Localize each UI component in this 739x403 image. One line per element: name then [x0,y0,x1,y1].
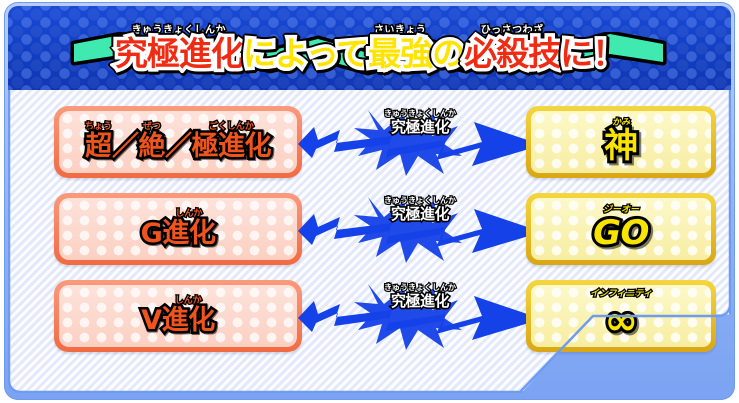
ruby-unit: ちょう 超 [85,123,112,162]
ruby-unit: しんか 進化 [162,297,215,336]
source-base: G [141,219,163,249]
header-title-row: きゅうきょくしんか 究極進化 によって さいきょう 最強 の ひっさつわざ [115,26,624,72]
source-card-inner: G しんか 進化 [59,198,297,260]
source-base: 絶 [139,132,166,162]
source-base: V [141,306,161,336]
source-base: 超 [85,132,112,162]
source-card-text: V しんか 進化 [141,297,214,336]
evolution-arrow: きゅうきょくしんか 究極進化 [296,187,544,271]
title-segment-3: さいきょう 最強 [368,26,432,72]
ruby-unit: V [141,306,161,336]
header-title: きゅうきょくしんか 究極進化 によって さいきょう 最強 の ひっさつわざ [8,20,731,72]
result-card-text: ジーオー GO [593,206,649,252]
source-card[interactable]: G しんか 進化 [54,193,302,265]
arrow-base: 究極進化 [296,206,544,223]
ruby-unit: ／ [165,132,192,162]
arrow-ruby: きゅうきょくしんか [296,284,544,292]
ruby-unit: しんか 進化 [162,210,215,249]
evolution-row: G しんか 進化 きゅう [8,193,731,265]
arrow-ruby: きゅうきょくしんか [296,197,544,205]
arrow-base: 究極進化 [296,119,544,136]
header-banner: きゅうきょくしんか 究極進化 によって さいきょう 最強 の ひっさつわざ [8,6,731,92]
result-card-inner: かみ 神 [531,111,711,173]
arrow-base: 究極進化 [296,293,544,310]
ruby-unit: ジーオー GO [593,206,649,252]
ruby-unit: ／ [112,132,139,162]
result-card[interactable]: インフィニティ ∞ [526,280,716,352]
source-base: ／ [165,132,192,162]
source-base: 進化 [162,219,215,249]
source-base: 極進化 [192,132,272,162]
ruby-unit: ぜつ 絶 [139,123,166,162]
title-base-2: によって [243,37,368,72]
source-card-inner: ちょう 超 ／ ぜつ 絶 ／ [59,111,297,173]
title-segment-5: ひっさつわざ 必殺技 [464,26,560,72]
title-base-3: 最強 [368,37,432,72]
title-base-6: に！ [560,37,624,72]
ruby-unit: G [141,219,163,249]
result-card[interactable]: ジーオー GO [526,193,716,265]
result-card[interactable]: かみ 神 [526,106,716,178]
evolution-row: ちょう 超 ／ ぜつ 絶 ／ [8,106,731,178]
evolution-row: V しんか 進化 きゅう [8,280,731,352]
source-card-text: ちょう 超 ／ ぜつ 絶 ／ [85,123,271,162]
evolution-rows: ちょう 超 ／ ぜつ 絶 ／ [8,90,731,393]
title-base-4: の [432,37,464,72]
result-base: 神 [604,128,638,165]
ruby-unit: かみ 神 [604,119,638,165]
source-base: ／ [112,132,139,162]
title-base-5: 必殺技 [464,37,560,72]
title-segment-2: によって [243,36,368,72]
source-card[interactable]: ちょう 超 ／ ぜつ 絶 ／ [54,106,302,178]
source-card-inner: V しんか 進化 [59,285,297,347]
arrow-label: きゅうきょくしんか 究極進化 [296,284,544,310]
result-card-text: かみ 神 [604,119,638,165]
result-base: GO [593,215,649,252]
source-base: 進化 [162,306,215,336]
source-card-text: G しんか 進化 [141,210,216,249]
arrow-ruby: きゅうきょくしんか [296,110,544,118]
result-base: ∞ [605,299,638,343]
evolution-arrow: きゅうきょくしんか 究極進化 [296,100,544,184]
arrow-label: きゅうきょくしんか 究極進化 [296,197,544,223]
title-segment-4: の [432,36,464,72]
evolution-arrow: きゅうきょくしんか 究極進化 [296,274,544,358]
source-card[interactable]: V しんか 進化 [54,280,302,352]
ruby-unit: インフィニティ ∞ [590,290,652,343]
result-card-inner: ジーオー GO [531,198,711,260]
title-segment-6: に！ [560,36,624,72]
result-card-text: インフィニティ ∞ [590,290,652,343]
ruby-unit: ごくしんか 極進化 [192,123,272,162]
title-segment-1: きゅうきょくしんか 究極進化 [115,26,243,72]
evolution-chart-panel: きゅうきょくしんか 究極進化 によって さいきょう 最強 の ひっさつわざ [0,0,739,403]
arrow-label: きゅうきょくしんか 究極進化 [296,110,544,136]
result-card-inner: インフィニティ ∞ [531,285,711,347]
title-base-1: 究極進化 [115,37,243,72]
